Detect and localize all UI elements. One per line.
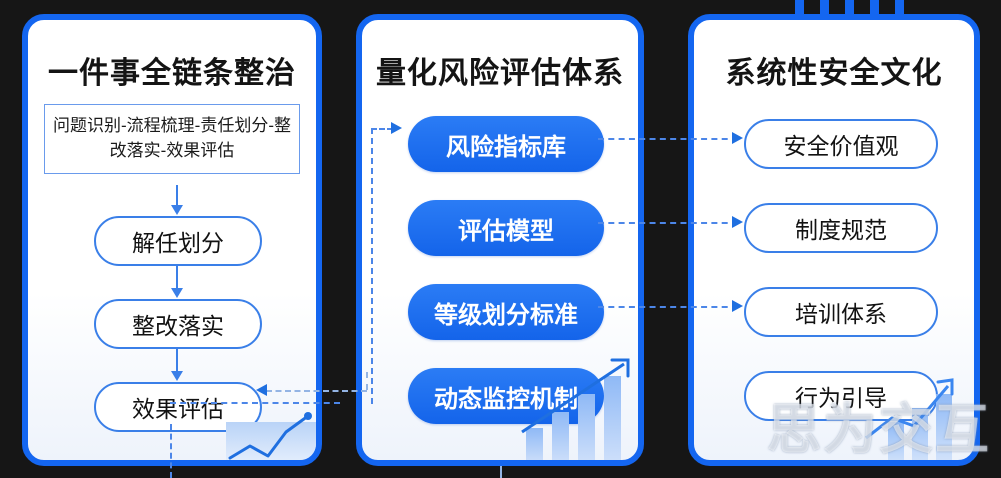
connector-horizontal: [598, 306, 738, 308]
node-jieren-huafen[interactable]: 解任划分: [94, 216, 262, 266]
connector-arrowhead: [732, 132, 743, 144]
process-summary-box: 问题识别-流程梳理-责任划分-整改落实-效果评估: [44, 104, 300, 174]
connector-vertical: [366, 372, 368, 390]
connector-horizontal: [371, 128, 393, 130]
diagram-canvas: 一件事全链条整治 问题识别-流程梳理-责任划分-整改落实-效果评估 解任划分 整…: [0, 0, 1001, 478]
page-title: 量化风险评估体系: [362, 48, 638, 92]
pill-dengji-huafen-biaozhun[interactable]: 等级划分标准: [408, 284, 604, 340]
node-zhenggai-luoshi[interactable]: 整改落实: [94, 299, 262, 349]
connector-arrowhead: [732, 300, 743, 312]
connector-horizontal: [170, 402, 340, 404]
node-xiaoguo-pinggu[interactable]: 效果评估: [94, 382, 262, 432]
watermark: 思为交互: [767, 385, 991, 464]
node-peixun-tixi[interactable]: 培训体系: [744, 287, 938, 337]
connector-arrowhead: [732, 216, 743, 228]
connector-vertical: [371, 128, 373, 404]
connector-arrowhead: [256, 384, 267, 396]
pill-dongtai-jiankong-jizhi[interactable]: 动态监控机制: [408, 368, 604, 424]
pill-pinggu-moxing[interactable]: 评估模型: [408, 200, 604, 256]
connector-horizontal: [598, 138, 738, 140]
panel-process-governance: 一件事全链条整治 问题识别-流程梳理-责任划分-整改落实-效果评估 解任划分 整…: [22, 14, 322, 466]
flow-arrow: [176, 266, 178, 289]
page-title: 一件事全链条整治: [28, 48, 316, 92]
flow-arrow: [176, 349, 178, 372]
connector-horizontal: [266, 390, 367, 392]
page-title: 系统性安全文化: [694, 48, 974, 92]
connector-arrowhead: [391, 122, 402, 134]
node-zhidu-guifan[interactable]: 制度规范: [744, 203, 938, 253]
pill-fengxian-zhibiaoku[interactable]: 风险指标库: [408, 116, 604, 172]
connector-horizontal: [598, 222, 738, 224]
connector-vertical: [170, 424, 172, 478]
node-anquan-jiazhiguan[interactable]: 安全价值观: [744, 119, 938, 169]
flow-arrow: [176, 185, 178, 206]
connector-vertical: [500, 466, 502, 478]
panel-quantified-risk-assessment: 量化风险评估体系 风险指标库 评估模型 等级划分标准 动态监控机制: [356, 14, 644, 466]
